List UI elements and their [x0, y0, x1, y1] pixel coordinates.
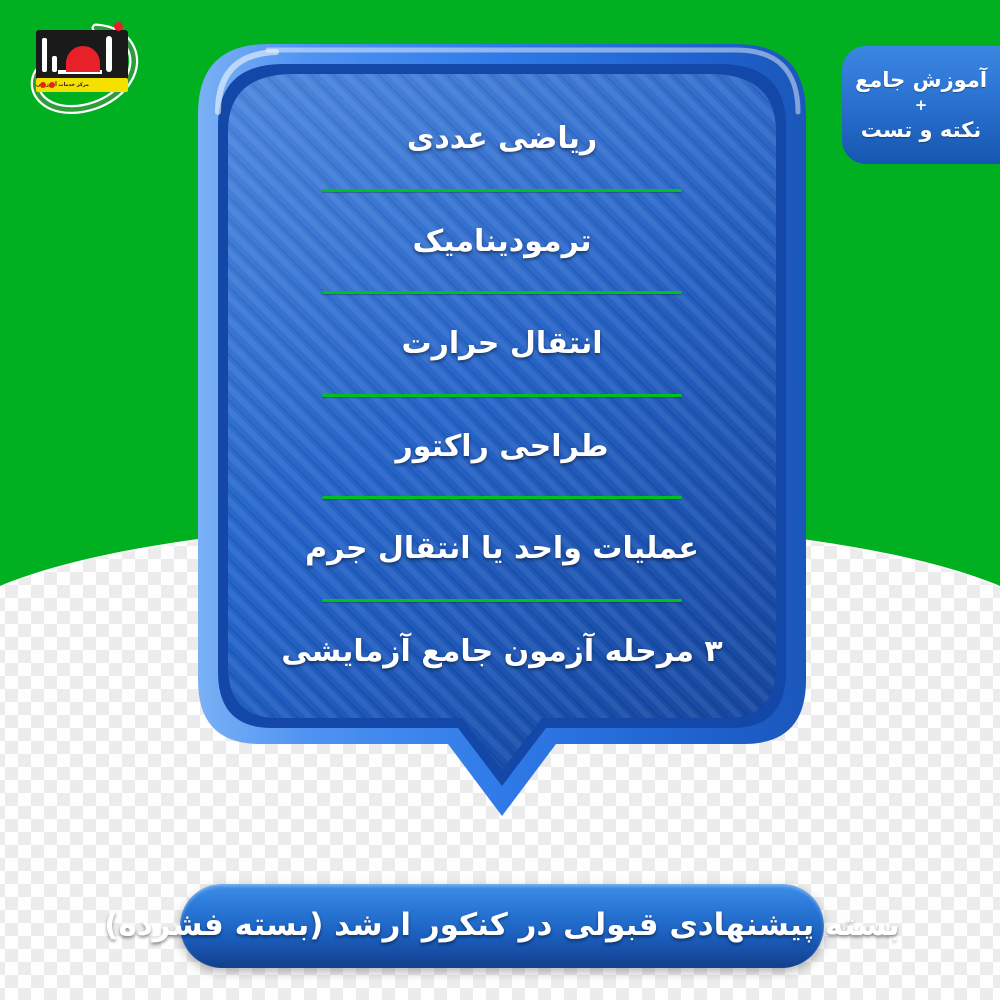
course-list: ریاضی عددی ترمودینامیک انتقال حرارت طراح…	[238, 96, 766, 716]
bottom-cta-text: بسته پیشنهادی قبولی در کنکور ارشد (بسته …	[104, 907, 899, 944]
promo-badge-plus: +	[915, 95, 928, 116]
list-item[interactable]: ریاضی عددی	[238, 114, 766, 162]
list-divider	[322, 394, 682, 397]
list-item[interactable]: طراحی راکتور	[238, 422, 766, 470]
list-item[interactable]: ۳ مرحله آزمون جامع آزمایشی	[238, 627, 766, 675]
list-divider	[322, 291, 682, 294]
logo-dot-left-icon	[40, 82, 46, 88]
list-item[interactable]: ترمودینامیک	[238, 217, 766, 265]
list-item[interactable]: انتقال حرارت	[238, 319, 766, 367]
list-item[interactable]: عملیات واحد یا انتقال جرم	[238, 524, 766, 572]
nasir-logo[interactable]: مرکز خدمات آموزشی	[18, 14, 148, 124]
list-divider	[322, 599, 682, 602]
bottom-cta-banner[interactable]: بسته پیشنهادی قبولی در کنکور ارشد (بسته …	[180, 884, 824, 968]
promo-badge[interactable]: آموزش جامع + نکته و تست	[842, 46, 1000, 164]
list-divider	[322, 496, 682, 499]
logo-wordmark-plate	[36, 30, 128, 82]
course-list-card: ریاضی عددی ترمودینامیک انتقال حرارت طراح…	[198, 44, 806, 834]
poster-canvas: مرکز خدمات آموزشی آموزش جامع + نکته و تس…	[0, 0, 1000, 1000]
logo-dot-right-icon	[49, 82, 55, 88]
promo-badge-line1: آموزش جامع	[855, 68, 987, 92]
promo-badge-line2: نکته و تست	[861, 118, 982, 142]
logo-dot-top-icon	[114, 22, 123, 31]
list-divider	[322, 189, 682, 192]
logo-dome-shape	[66, 46, 100, 72]
